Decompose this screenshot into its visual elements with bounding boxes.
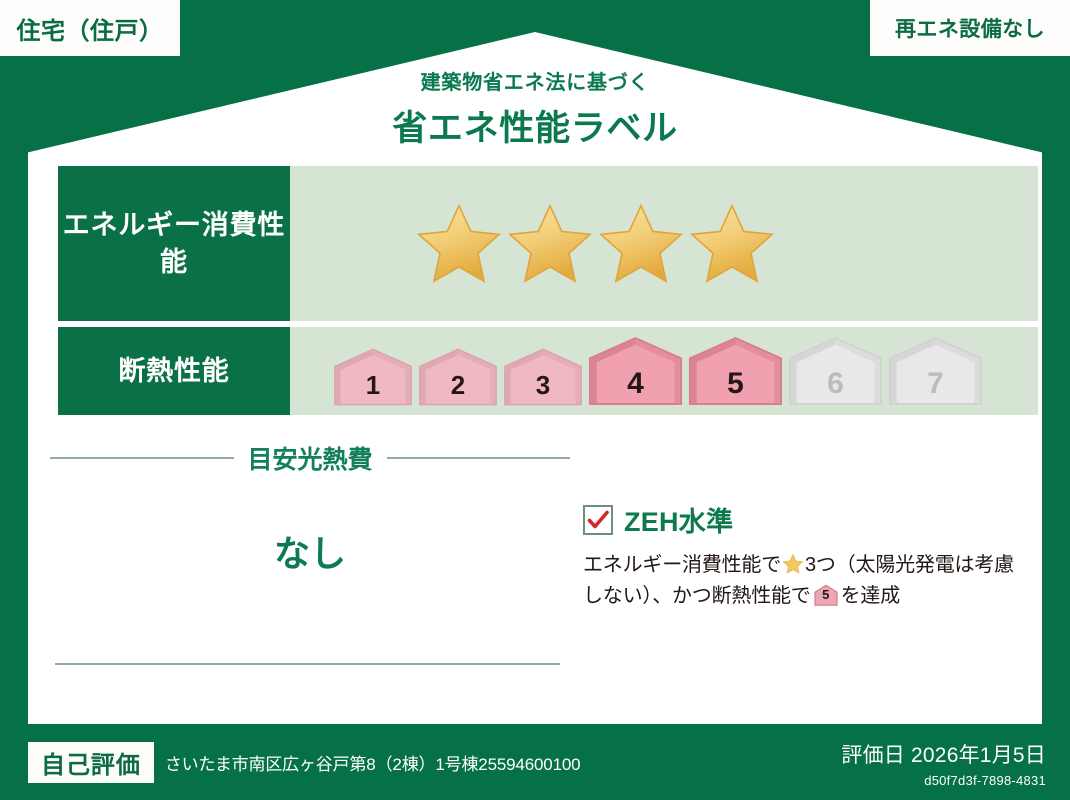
insulation-grade-inline-value: 5 [814, 585, 838, 605]
insulation-scale: 1234567 [290, 327, 1038, 415]
star-icon [782, 553, 804, 575]
insulation-level-value: 4 [587, 367, 684, 401]
insulation-level-value: 3 [502, 370, 584, 401]
insulation-level-4: 4 [587, 335, 684, 407]
heading-rule-right [387, 457, 571, 459]
insulation-house-list: 1234567 [332, 335, 987, 407]
insulation-level-value: 2 [417, 370, 499, 401]
label-footer: 自己評価 さいたま市南区広ヶ谷戸第8（2棟）1号棟25594600100 評価日… [0, 724, 1070, 800]
star-icon [507, 201, 593, 287]
insulation-level-value: 7 [887, 367, 984, 401]
property-address: さいたま市南区広ヶ谷戸第8（2棟）1号棟25594600100 [165, 750, 581, 775]
label-id: d50f7d3f-7898-4831 [841, 773, 1046, 788]
building-type-tag: 住宅（住戸） [0, 0, 180, 56]
star-icon [598, 201, 684, 287]
zeh-description: エネルギー消費性能で3つ（太陽光発電は考慮しない）、かつ断熱性能で5を達成 [583, 550, 1023, 612]
insulation-level-value: 1 [332, 370, 414, 401]
utility-cost-heading: 目安光熱費 [50, 440, 570, 476]
insulation-level-5: 5 [687, 335, 784, 407]
zeh-heading: ZEH水準 [583, 500, 1023, 539]
utility-cost-underline [55, 663, 560, 665]
zeh-title: ZEH水準 [624, 500, 733, 539]
check-icon [586, 508, 610, 532]
zeh-desc-part2: 3つ（太陽光発電 [805, 554, 955, 576]
energy-star-rating [290, 166, 1038, 321]
zeh-section: ZEH水準 エネルギー消費性能で3つ（太陽光発電は考慮しない）、かつ断熱性能で5… [583, 500, 1023, 612]
renewable-equipment-tag: 再エネ設備なし [870, 0, 1070, 56]
footer-left: 自己評価 さいたま市南区広ヶ谷戸第8（2棟）1号棟25594600100 [28, 742, 580, 783]
zeh-desc-part4: を達成 [841, 585, 900, 607]
insulation-grade-inline-icon: 5 [814, 584, 838, 606]
insulation-level-1: 1 [332, 347, 414, 407]
star-icon [416, 201, 502, 287]
zeh-checkbox[interactable] [583, 505, 613, 535]
insulation-level-value: 5 [687, 367, 784, 401]
insulation-level-7: 7 [887, 335, 984, 407]
energy-consumption-row: エネルギー消費性能 [58, 166, 1038, 321]
insulation-level-2: 2 [417, 347, 499, 407]
heading-rule-left [50, 457, 234, 459]
performance-rows: エネルギー消費性能 断熱性能 1234567 [58, 166, 1038, 421]
footer-right: 評価日 2026年1月5日 d50f7d3f-7898-4831 [841, 739, 1046, 788]
renewable-equipment-label: 再エネ設備なし [895, 13, 1045, 43]
evaluation-date: 評価日 2026年1月5日 [841, 739, 1046, 769]
building-type-label: 住宅（住戸） [17, 11, 164, 46]
insulation-row: 断熱性能 1234567 [58, 327, 1038, 415]
evaluation-type-badge: 自己評価 [28, 742, 154, 783]
zeh-desc-part1: エネルギー消費性能で [583, 554, 781, 576]
insulation-level-3: 3 [502, 347, 584, 407]
energy-consumption-label: エネルギー消費性能 [58, 166, 290, 321]
utility-cost-heading-label: 目安光熱費 [234, 440, 387, 476]
insulation-level-value: 6 [787, 367, 884, 401]
utility-cost-value: なし [50, 525, 570, 577]
insulation-label: 断熱性能 [58, 327, 290, 415]
star-icon [689, 201, 775, 287]
insulation-level-6: 6 [787, 335, 884, 407]
